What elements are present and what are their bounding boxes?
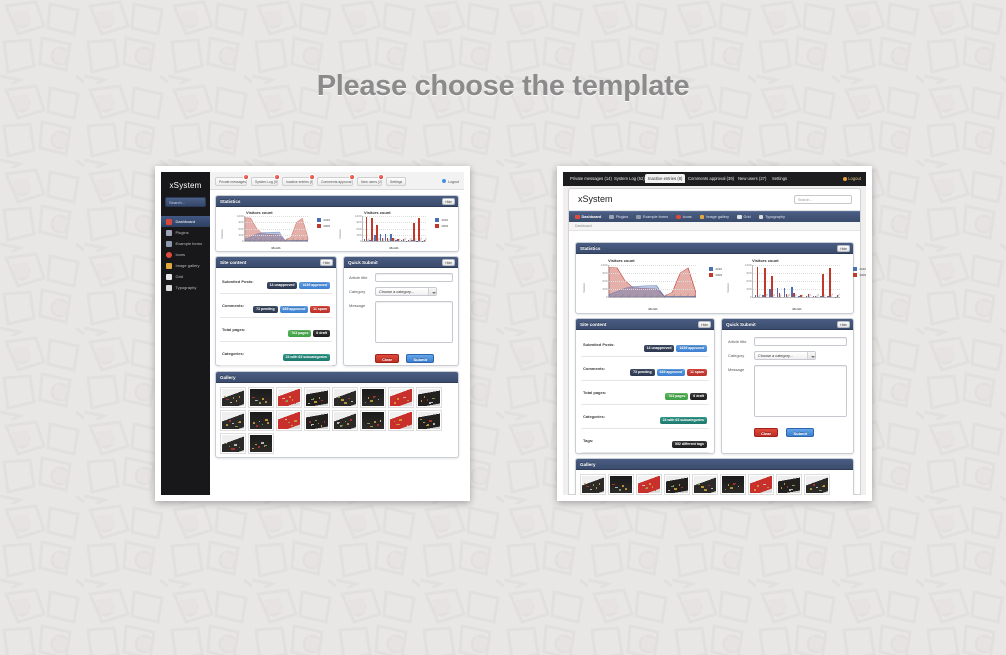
plugins-icon xyxy=(609,215,614,220)
panel-gallery: Gallery xyxy=(215,371,459,458)
bar-group xyxy=(762,265,766,297)
article-title-label: Article title xyxy=(728,337,754,344)
gallery-thumbnail[interactable] xyxy=(276,387,302,408)
gallery-thumbnail[interactable] xyxy=(360,410,386,431)
message-textarea[interactable] xyxy=(375,301,453,343)
bar xyxy=(757,267,759,297)
category-select[interactable]: Choose a category... xyxy=(375,287,437,296)
template-preview-top-nav: Private messages (14) System Log (52) In… xyxy=(563,172,866,495)
chart-visitors-area: Visitors count Visitors 1200 900 600 300… xyxy=(222,210,330,250)
chart-xlabel: Month xyxy=(222,246,330,250)
chart-legend: 2010 2009 xyxy=(435,218,448,230)
row-values: 73 pending639 approved11 spam xyxy=(251,297,330,315)
sidebar-item-dashboard[interactable]: Dashboard xyxy=(161,216,210,227)
forms-icon xyxy=(636,215,641,220)
xtick: May xyxy=(786,293,791,299)
thumbnail-image xyxy=(362,389,384,406)
nav-item-plugins[interactable]: Plugins xyxy=(609,215,628,220)
thumbnail-image xyxy=(222,435,244,452)
message-textarea[interactable] xyxy=(754,365,847,417)
dashboard-icon xyxy=(166,219,172,225)
topbar-item-inactive-entries[interactable]: Inactive entries (8) xyxy=(645,174,685,183)
thumbnail-image xyxy=(334,389,356,406)
template-option-top-nav[interactable]: Private messages (14) System Log (52) In… xyxy=(557,166,872,501)
gallery-grid xyxy=(216,383,458,458)
nav-item-grid[interactable]: Grid xyxy=(737,215,751,220)
gallery-thumbnail[interactable] xyxy=(664,474,690,495)
gallery-thumbnail[interactable] xyxy=(332,387,358,408)
panel-body: Article title Category Choose a category… xyxy=(722,330,853,447)
thumbnail-image xyxy=(750,476,772,493)
sidebar-item-label: Image gallery xyxy=(176,263,200,268)
ytick: 0 xyxy=(242,239,244,243)
gallery-thumbnail[interactable] xyxy=(388,387,414,408)
thumbnail-image xyxy=(250,412,272,429)
gallery-thumbnail[interactable] xyxy=(304,387,330,408)
row-label: Categories: xyxy=(222,351,244,356)
logout-button[interactable]: Logout xyxy=(442,179,459,184)
topbar-item-private-messages[interactable]: Private messages (14) xyxy=(567,174,615,183)
bar-group xyxy=(755,265,759,297)
sidebar-item-grid[interactable]: Grid xyxy=(161,271,210,282)
chevron-down-icon xyxy=(428,288,436,295)
chart-title: Visitors count xyxy=(752,258,779,263)
chart-title: Visitors count xyxy=(364,210,391,215)
chart-ylabel: Visitors xyxy=(220,229,224,239)
nav-item-example-forms[interactable]: Example forms xyxy=(636,215,668,220)
row-label: Submited Posts: xyxy=(583,342,615,347)
nav-item-icons[interactable]: Icons xyxy=(676,215,692,220)
badge-count-inactive-entries xyxy=(309,174,315,180)
ytick: 300 xyxy=(238,233,243,237)
xtick: Sep xyxy=(671,294,676,300)
site-content-row: Categories:24 with 63 subcategories xyxy=(220,342,332,366)
bar-group xyxy=(827,265,831,297)
gallery-thumbnail[interactable] xyxy=(220,410,246,431)
notification-bar: Private messages (14) System Log (52) In… xyxy=(563,172,866,186)
category-label: Category xyxy=(349,287,375,294)
chart-xlabel: Month xyxy=(340,246,448,250)
gallery-thumbnail[interactable] xyxy=(220,433,246,454)
xtick: May xyxy=(642,293,647,299)
sidebar-item-label: Typography xyxy=(176,285,197,290)
nav-item-dashboard[interactable]: Dashboard xyxy=(575,215,601,220)
thumbnail-image xyxy=(306,412,328,429)
gallery-thumbnail[interactable] xyxy=(804,474,830,495)
panel-body: Visitors count Visitors 1200 900 600 300… xyxy=(576,254,853,314)
article-title-input[interactable] xyxy=(754,337,847,346)
status-badge: 552 different tags xyxy=(672,441,707,448)
status-badge: 1639 approved xyxy=(676,345,707,352)
panel-header: Gallery xyxy=(576,459,853,470)
status-badge: 1639 approved xyxy=(299,282,330,289)
thumbnail-image xyxy=(582,476,604,493)
row-label: Tags: xyxy=(583,438,593,443)
thumbnail-image xyxy=(362,412,384,429)
topbar-item-new-users[interactable]: New users (27) xyxy=(735,174,769,183)
thumbnail-image xyxy=(722,476,744,493)
brand-logo: xSystem xyxy=(578,194,613,204)
status-badge: 639 approved xyxy=(280,306,309,313)
panel-gallery: Gallery xyxy=(575,458,854,495)
logout-icon xyxy=(442,179,446,183)
thumbnail-image xyxy=(666,476,688,493)
site-content-row: Tags:552 different tags xyxy=(581,429,709,453)
panel-body: Visitors count Visitors 1200 900 600 300… xyxy=(216,207,458,252)
bar-group xyxy=(820,265,824,297)
sidebar-item-label: Dashboard xyxy=(176,219,196,224)
status-badge: 11 spam xyxy=(687,369,707,376)
logout-button[interactable]: Logout xyxy=(843,174,861,183)
site-content-row: Categories:24 with 63 subcategories xyxy=(581,405,709,429)
chart-plot-area: 1200 900 600 300 0 JanFebMarAprMayJunJul… xyxy=(244,216,308,242)
hide-button[interactable]: Hide xyxy=(837,321,850,328)
row-values: 763 pages6 draft xyxy=(663,384,707,402)
status-badge: 763 pages xyxy=(288,330,311,337)
thumbnail-image xyxy=(334,412,356,429)
form-row-article-title: Article title xyxy=(349,273,453,282)
row-values: 763 pages6 draft xyxy=(286,321,330,339)
brand-logo: xSystem xyxy=(161,172,210,190)
badge-count-new-users xyxy=(378,174,384,180)
ytick: 1200 xyxy=(601,263,608,267)
search-input[interactable]: Search... xyxy=(794,195,852,204)
xtick: Dec xyxy=(836,294,841,300)
site-content-row: Comments:73 pending639 approved11 spam xyxy=(220,294,332,318)
thumbnail-image xyxy=(390,389,412,406)
status-badge: 6 draft xyxy=(313,330,330,337)
thumbnail-image xyxy=(694,476,716,493)
bar-group xyxy=(385,216,389,241)
thumbnail-image xyxy=(222,389,244,406)
gallery-thumbnail[interactable] xyxy=(720,474,746,495)
panel-header: Quick Submit Hide xyxy=(344,257,458,268)
gallery-thumb-list xyxy=(220,387,454,454)
header: xSystem Search... xyxy=(569,189,860,211)
thumbnail-image xyxy=(806,476,828,493)
xtick: Jun xyxy=(793,294,798,299)
thumbnail-image xyxy=(778,476,800,493)
ytick: 0 xyxy=(606,295,608,299)
gallery-thumb-list xyxy=(580,474,849,495)
status-badge: 639 approved xyxy=(657,369,686,376)
main-nav: Dashboard Plugins Example forms Icons Im… xyxy=(569,211,860,222)
chart-ylabel: Visitors xyxy=(338,229,342,239)
typography-icon xyxy=(759,215,764,220)
chart-plot-area: 1200 900 600 300 0 JanFebMarAprMayJunJul… xyxy=(752,265,840,298)
submit-button[interactable]: Submit xyxy=(406,354,434,363)
ytick: 1200 xyxy=(745,263,752,267)
hide-button[interactable]: Hide xyxy=(442,259,455,266)
xtick: Dec xyxy=(305,237,310,243)
grid-icon xyxy=(166,274,172,280)
ytick: 1200 xyxy=(237,214,244,218)
badge-count-comments-approval xyxy=(349,174,355,180)
gallery-thumbnail[interactable] xyxy=(776,474,802,495)
panel-quick-submit: Quick Submit Hide Article title Category… xyxy=(343,256,459,366)
grid-icon xyxy=(737,215,742,220)
form-row-category: Category Choose a category... xyxy=(349,287,453,296)
page-title: Please choose the template xyxy=(0,70,1006,103)
article-title-input[interactable] xyxy=(375,273,453,282)
site-content-row: Total pages:763 pages6 draft xyxy=(581,381,709,405)
hide-button[interactable]: Hide xyxy=(698,321,711,328)
thumbnail-image xyxy=(222,412,244,429)
ytick: 900 xyxy=(602,271,607,275)
thumbnail-image xyxy=(278,389,300,406)
row-values: 73 pending639 approved11 spam xyxy=(628,360,707,378)
panel-quick-submit: Quick Submit Hide Article title Category… xyxy=(721,318,854,454)
gallery-thumbnail[interactable] xyxy=(692,474,718,495)
thumbnail-image xyxy=(418,412,440,429)
gallery-thumbnail[interactable] xyxy=(748,474,774,495)
forms-icon xyxy=(166,241,172,247)
gallery-thumbnail[interactable] xyxy=(388,410,414,431)
icons-icon xyxy=(676,215,681,220)
plugins-icon xyxy=(166,230,172,236)
status-badge: 763 pages xyxy=(665,393,688,400)
ytick: 600 xyxy=(602,279,607,283)
category-label: Category xyxy=(728,351,754,358)
xtick: Jan xyxy=(613,294,618,299)
gallery-thumbnail[interactable] xyxy=(636,474,662,495)
ytick: 900 xyxy=(238,220,243,224)
submit-button[interactable]: Submit xyxy=(786,428,814,437)
gallery-thumbnail[interactable] xyxy=(248,433,274,454)
logout-icon xyxy=(843,177,847,181)
gallery-thumbnail[interactable] xyxy=(220,387,246,408)
chart-legend: 2010 2009 xyxy=(709,267,722,279)
bar-group xyxy=(364,216,368,241)
thumbnail-image xyxy=(250,435,272,452)
ytick: 900 xyxy=(746,271,751,275)
breadcrumb: Dashboard xyxy=(569,222,860,231)
form-actions: Clear Submit xyxy=(754,422,847,440)
chart-title: Visitors count xyxy=(246,210,273,215)
main-area: Private messages (14) System Log (52) In… xyxy=(210,172,464,495)
site-content-row: Submited Posts:14 unapproved1639 approve… xyxy=(220,270,332,294)
xtick: Jan xyxy=(757,294,762,299)
xtick: Oct xyxy=(678,294,683,299)
template-preview-dark-sidebar: xSystem Search... Dashboard Plugins Exam… xyxy=(161,172,464,495)
gallery-thumbnail[interactable] xyxy=(248,410,274,431)
sidebar-item-plugins[interactable]: Plugins xyxy=(161,227,210,238)
panel-header: Statistics Hide xyxy=(216,196,458,207)
chevron-down-icon xyxy=(807,352,815,359)
topbar-item-settings[interactable]: Settings xyxy=(386,177,406,186)
thumbnail-image xyxy=(306,389,328,406)
chart-xlabel: Month xyxy=(728,307,866,311)
panel-site-content: Site content Hide Submited Posts:14 unap… xyxy=(575,318,715,454)
search-input[interactable]: Search... xyxy=(165,197,206,207)
icons-icon xyxy=(166,252,172,258)
panel-header: Gallery xyxy=(216,372,458,383)
ytick: 0 xyxy=(360,239,362,243)
form-row-category: Category Choose a category... xyxy=(728,351,847,360)
sidebar-item-label: Grid xyxy=(176,274,184,279)
sidebar-item-typography[interactable]: Typography xyxy=(161,282,210,293)
form-row-message: Message xyxy=(349,301,453,343)
chart-xlabel: Month xyxy=(584,307,722,311)
main-area: xSystem Search... Dashboard Plugins Exam… xyxy=(568,188,861,495)
chart-title: Visitors count xyxy=(608,258,635,263)
nav-item-typography[interactable]: Typography xyxy=(759,215,785,220)
ytick: 300 xyxy=(746,287,751,291)
panel-body: Article title Category Choose a category… xyxy=(344,268,458,371)
topbar-item-comments-approval[interactable]: Comments approval (39) xyxy=(317,177,353,186)
bar-group xyxy=(835,265,839,297)
bar-group xyxy=(806,265,810,297)
gallery-thumbnail[interactable] xyxy=(248,387,274,408)
topbar-item-comments-approval[interactable]: Comments approval (39) xyxy=(685,174,737,183)
ytick: 600 xyxy=(238,227,243,231)
chart-visitors-area: Visitors count Visitors 1200 900 600 300… xyxy=(584,258,722,311)
badge-count-system-log xyxy=(274,174,280,180)
gallery-icon xyxy=(166,263,172,269)
bar-group xyxy=(798,265,802,297)
ytick: 600 xyxy=(356,227,361,231)
form-row-article-title: Article title xyxy=(728,337,847,346)
chart-visitors-bar: Visitors count Visitors 1200 900 600 300… xyxy=(340,210,448,250)
chart-legend: 2010 2009 xyxy=(853,267,866,279)
chart-visitors-bar: Visitors count Visitors 1200 900 600 300… xyxy=(728,258,866,311)
sidebar-item-label: Icons xyxy=(176,252,186,257)
status-badge: 73 pending xyxy=(630,369,654,376)
panel-header: Statistics Hide xyxy=(576,243,853,254)
chart-ylabel: Visitors xyxy=(582,283,586,293)
gallery-icon xyxy=(700,215,705,220)
sidebar-item-label: Example forms xyxy=(176,241,203,246)
status-badge: 24 with 63 subcategories xyxy=(283,354,330,361)
gallery-thumbnail[interactable] xyxy=(276,410,302,431)
bar-group xyxy=(777,265,781,297)
sidebar-item-icons[interactable]: Icons xyxy=(161,249,210,260)
template-option-dark-sidebar[interactable]: xSystem Search... Dashboard Plugins Exam… xyxy=(155,166,470,501)
bar-group xyxy=(784,265,788,297)
bar-group xyxy=(769,265,773,297)
panel-site-content: Site content Hide Submited Posts:14 unap… xyxy=(215,256,337,366)
notification-bar: Private messages (14) System Log (52) In… xyxy=(210,172,464,190)
sidebar-item-example-forms[interactable]: Example forms xyxy=(161,238,210,249)
sidebar-item-label: Plugins xyxy=(176,230,189,235)
ytick: 300 xyxy=(356,233,361,237)
row-values: 14 unapproved1639 approved xyxy=(642,336,707,354)
ytick: 900 xyxy=(356,220,361,224)
chart-ylabel: Visitors xyxy=(726,283,730,293)
thumbnail-image xyxy=(278,412,300,429)
xtick: Sep xyxy=(815,294,820,300)
message-label: Message xyxy=(728,365,754,372)
row-values: 24 with 63 subcategories xyxy=(658,408,707,426)
site-content-row: Submited Posts:14 unapproved1639 approve… xyxy=(581,333,709,357)
form-actions: Clear Submit xyxy=(375,348,453,366)
row-label: Submited Posts: xyxy=(222,279,254,284)
gallery-thumbnail[interactable] xyxy=(416,410,442,431)
status-badge: 14 unapproved xyxy=(644,345,675,352)
sidebar: xSystem Search... Dashboard Plugins Exam… xyxy=(161,172,210,495)
panel-header: Site content Hide xyxy=(576,319,714,330)
thumbnail-image xyxy=(638,476,660,493)
status-badge: 24 with 63 subcategories xyxy=(660,417,707,424)
row-label: Comments: xyxy=(222,303,244,308)
row-label: Categories: xyxy=(583,414,605,419)
row-label: Total pages: xyxy=(583,390,606,395)
chart-plot-area: 1200 900 600 300 0 JanFebMarAprMayJunJul… xyxy=(362,216,426,242)
nav-item-image-gallery[interactable]: Image gallery xyxy=(700,215,729,220)
thumbnail-image xyxy=(418,389,440,406)
ytick: 0 xyxy=(750,295,752,299)
article-title-label: Article title xyxy=(349,273,375,280)
thumbnail-image xyxy=(610,476,632,493)
xtick: Oct xyxy=(822,294,827,299)
ytick: 600 xyxy=(746,279,751,283)
hide-button[interactable]: Hide xyxy=(320,259,333,266)
gallery-grid xyxy=(576,470,853,495)
row-label: Comments: xyxy=(583,366,605,371)
panel-statistics: Statistics Hide Visitors count Visitors … xyxy=(575,242,854,314)
thumbnail-image xyxy=(390,412,412,429)
status-badge: 73 pending xyxy=(253,306,277,313)
thumbnail-image xyxy=(250,389,272,406)
gallery-thumbnail[interactable] xyxy=(416,387,442,408)
row-label: Total pages: xyxy=(222,327,245,332)
clear-button[interactable]: Clear xyxy=(754,428,778,437)
typography-icon xyxy=(166,285,172,291)
hide-button[interactable]: Hide xyxy=(442,198,455,205)
site-content-row: Total pages:763 pages6 draft xyxy=(220,318,332,342)
row-values: 24 with 63 subcategories xyxy=(281,345,330,363)
row-values: 552 different tags xyxy=(670,432,707,450)
gallery-thumbnail[interactable] xyxy=(332,410,358,431)
dashboard-icon xyxy=(575,215,580,220)
bar-group xyxy=(813,265,817,297)
xtick: Dec xyxy=(423,237,428,243)
message-label: Message xyxy=(349,301,375,308)
sidebar-item-image-gallery[interactable]: Image gallery xyxy=(161,260,210,271)
gallery-thumbnail[interactable] xyxy=(580,474,606,495)
topbar-item-private-messages[interactable]: Private messages (14) xyxy=(215,177,247,186)
gallery-thumbnail[interactable] xyxy=(360,387,386,408)
status-badge: 6 draft xyxy=(690,393,707,400)
chart-plot-area: 1200 900 600 300 0 JanFebMarAprMayJunJul… xyxy=(608,265,696,298)
row-values: 14 unapproved1639 approved xyxy=(265,273,330,291)
panel-header: Site content Hide xyxy=(216,257,336,268)
xtick: Jun xyxy=(649,294,654,299)
chart-legend: 2010 2009 xyxy=(317,218,330,230)
panel-statistics: Statistics Hide Visitors count Visitors … xyxy=(215,195,459,252)
gallery-thumbnail[interactable] xyxy=(608,474,634,495)
category-select[interactable]: Choose a category... xyxy=(754,351,816,360)
badge-count-private-messages xyxy=(243,174,249,180)
ytick: 1200 xyxy=(355,214,362,218)
hide-button[interactable]: Hide xyxy=(837,245,850,252)
xtick: Dec xyxy=(692,294,697,300)
panel-header: Quick Submit Hide xyxy=(722,319,853,330)
bar-group xyxy=(791,265,795,297)
clear-button[interactable]: Clear xyxy=(375,354,399,363)
topbar-item-system-log[interactable]: System Log (52) xyxy=(611,174,648,183)
sidebar-nav: Dashboard Plugins Example forms Icons Im… xyxy=(161,216,210,293)
site-content-row: Comments:73 pending639 approved11 spam xyxy=(581,357,709,381)
form-row-message: Message xyxy=(728,365,847,417)
topbar-item-settings[interactable]: Settings xyxy=(769,174,790,183)
gallery-thumbnail[interactable] xyxy=(304,410,330,431)
status-badge: 14 unapproved xyxy=(267,282,298,289)
status-badge: 11 spam xyxy=(310,306,330,313)
ytick: 300 xyxy=(602,287,607,291)
